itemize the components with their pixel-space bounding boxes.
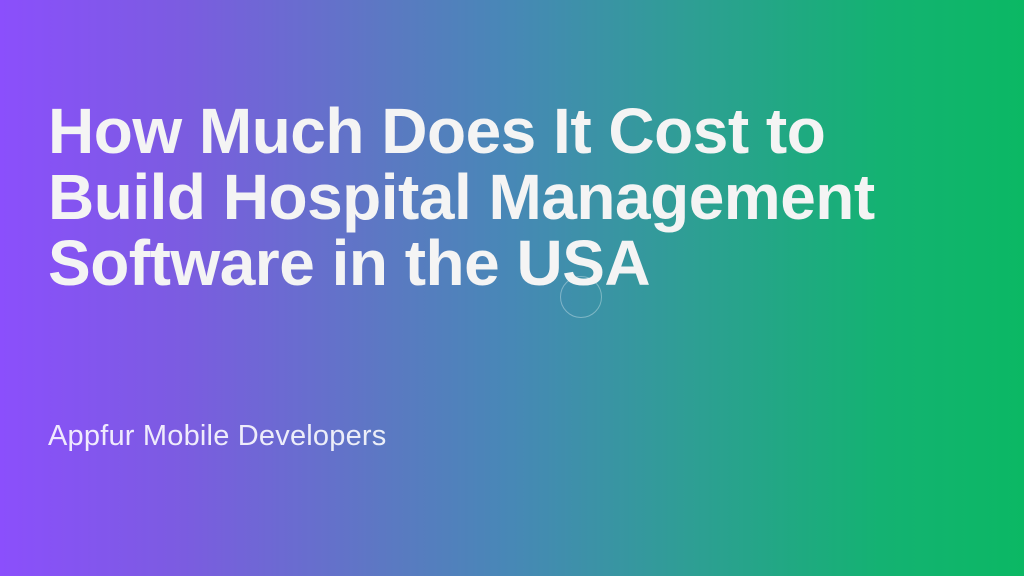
page-title: How Much Does It Cost to Build Hospital … (48, 98, 984, 296)
slide-content: How Much Does It Cost to Build Hospital … (48, 98, 984, 296)
slide-subtitle: Appfur Mobile Developers (48, 418, 386, 454)
title-slide: How Much Does It Cost to Build Hospital … (0, 0, 1024, 576)
